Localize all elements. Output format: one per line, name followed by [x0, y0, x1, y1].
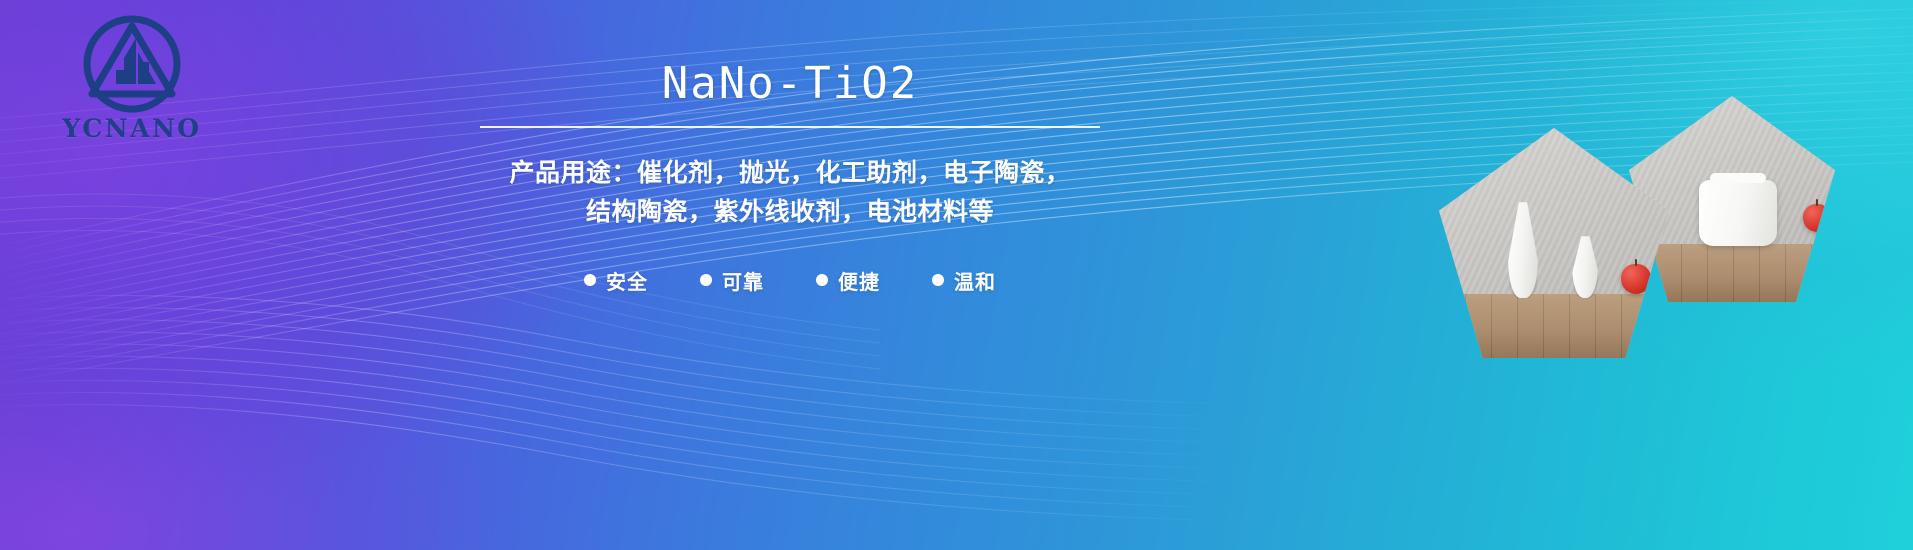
product-photos: [1439, 96, 1859, 396]
dot-icon: [700, 274, 712, 286]
feature-item-convenient: 便捷: [816, 266, 880, 295]
brand-logo[interactable]: YCNANO: [42, 14, 222, 150]
feature-label: 可靠: [722, 266, 764, 295]
dot-icon: [584, 274, 596, 286]
product-photo-secondary: [1629, 96, 1835, 302]
photo-floor: [1629, 244, 1835, 302]
feature-item-mild: 温和: [932, 266, 996, 295]
feature-list: 安全 可靠 便捷 温和: [480, 266, 1100, 295]
feature-item-reliable: 可靠: [700, 266, 764, 295]
description-line-1: 产品用途：催化剂，抛光，化工助剂，电子陶瓷，: [490, 154, 1090, 193]
white-jar: [1699, 180, 1777, 246]
product-banner: YCNANO NaNo-TiO2 产品用途：催化剂，抛光，化工助剂，电子陶瓷， …: [0, 0, 1913, 550]
feature-label: 温和: [954, 266, 996, 295]
feature-item-safe: 安全: [584, 266, 648, 295]
product-photo-primary: [1439, 128, 1669, 358]
hero-copy: NaNo-TiO2 产品用途：催化剂，抛光，化工助剂，电子陶瓷， 结构陶瓷，紫外…: [480, 60, 1100, 295]
title-divider: [480, 126, 1100, 128]
photo-floor: [1439, 294, 1669, 358]
brand-wordmark: YCNANO: [62, 116, 201, 141]
feature-label: 便捷: [838, 266, 880, 295]
red-apple: [1803, 204, 1831, 232]
red-apple: [1621, 264, 1651, 294]
dot-icon: [816, 274, 828, 286]
feature-label: 安全: [606, 266, 648, 295]
hero-title: NaNo-TiO2: [480, 60, 1100, 108]
dot-icon: [932, 274, 944, 286]
ycnano-logo-icon: [80, 14, 184, 118]
hero-description: 产品用途：催化剂，抛光，化工助剂，电子陶瓷， 结构陶瓷，紫外线收剂，电池材料等: [490, 154, 1090, 232]
description-line-2: 结构陶瓷，紫外线收剂，电池材料等: [490, 193, 1090, 232]
